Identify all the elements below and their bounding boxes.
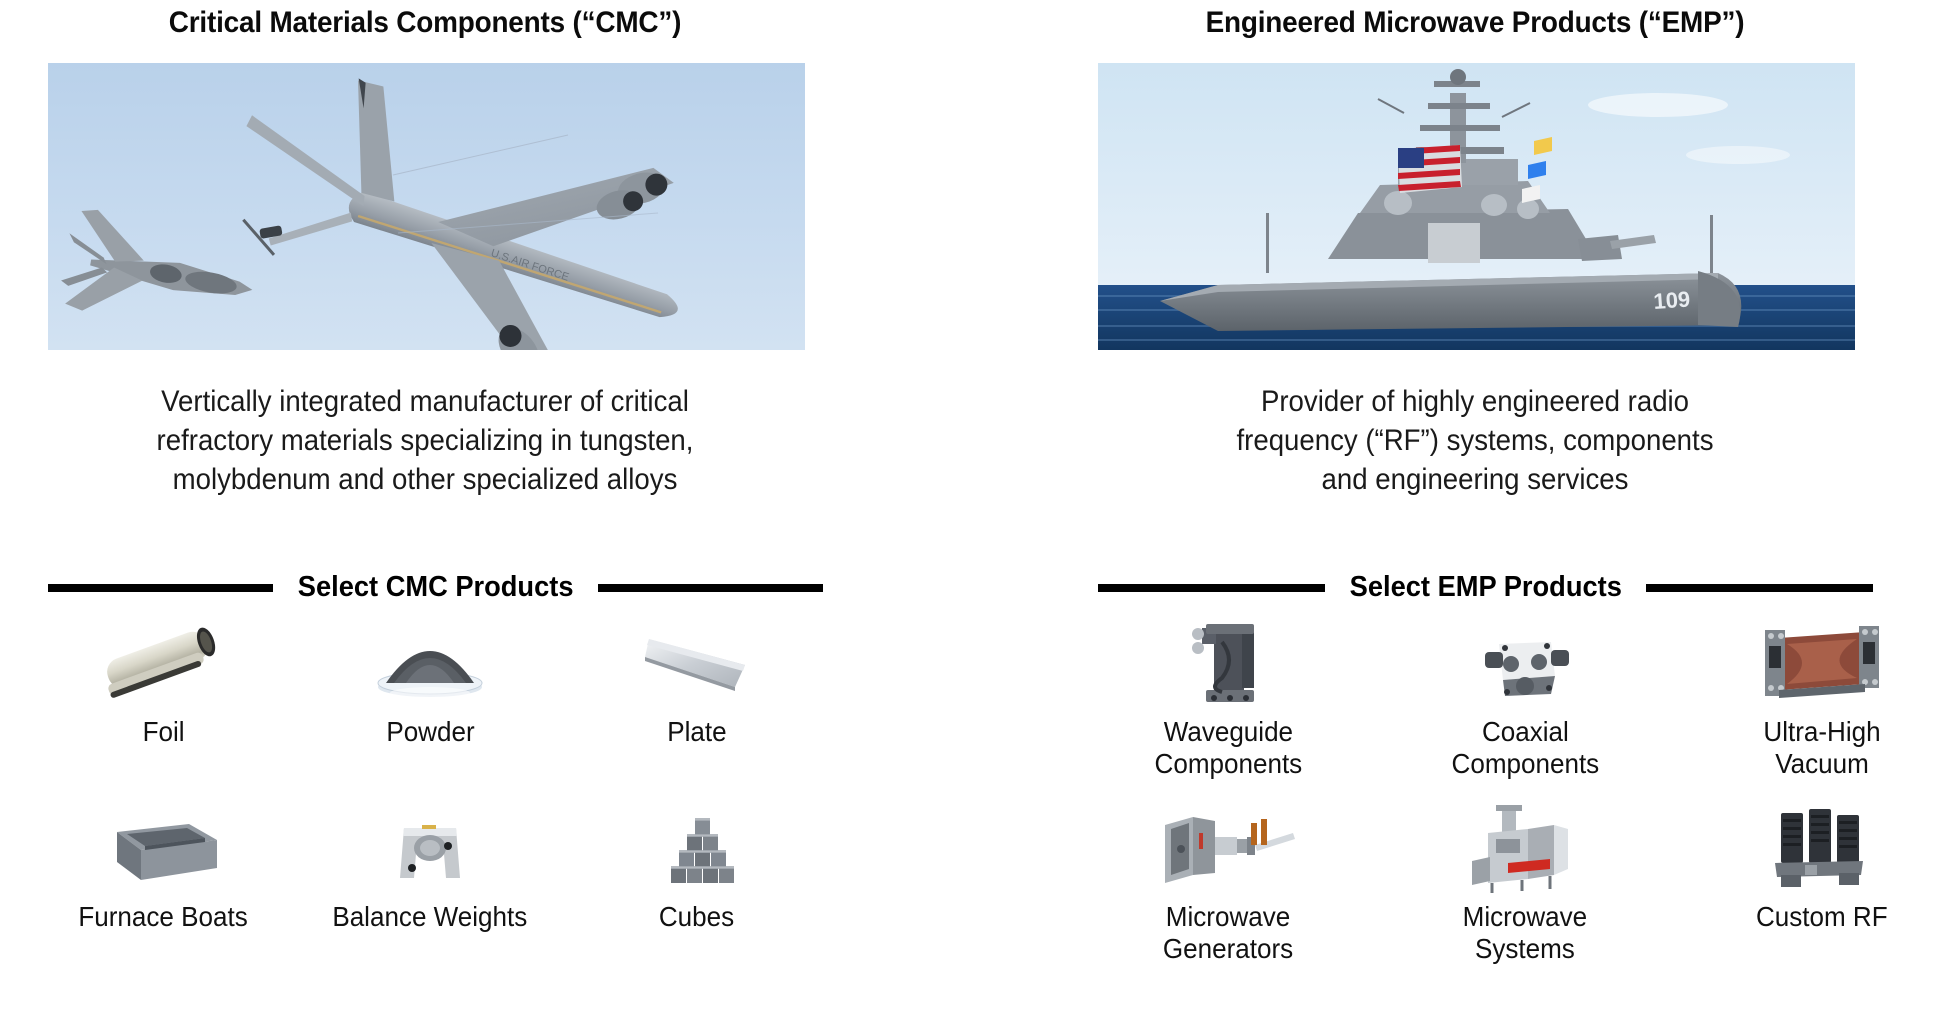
product-item-coaxial-components[interactable]: Coaxial Components (1377, 618, 1674, 803)
product-label: Furnace Boats (79, 901, 248, 933)
product-item-ultra-high-vacuum[interactable]: Ultra-High Vacuum (1673, 618, 1950, 803)
product-item-foil[interactable]: Foil (30, 618, 297, 803)
segment-description-emp: Provider of highly engineered radio freq… (1112, 382, 1839, 499)
product-label: Microwave Systems (1463, 901, 1587, 965)
hero-image-emp: 109 (1098, 63, 1855, 350)
product-label: Cubes (659, 901, 734, 933)
products-heading-emp: Select EMP Products (1098, 571, 1873, 604)
products-heading-label-cmc: Select CMC Products (298, 571, 574, 604)
product-label: Custom RF (1756, 901, 1888, 933)
products-heading-cmc: Select CMC Products (48, 571, 823, 604)
product-grid-cmc: Foil Powder (30, 618, 830, 988)
microwave-generator-icon (1143, 803, 1313, 895)
segment-title-cmc: Critical Materials Components (“CMC”) (58, 6, 793, 40)
rule-left (1098, 584, 1325, 592)
rule-left (48, 584, 273, 592)
product-label: Powder (386, 716, 474, 748)
foil-roll-icon (78, 618, 248, 710)
segment-column-cmc: Critical Materials Components (“CMC”) (30, 0, 930, 1012)
products-heading-label-emp: Select EMP Products (1349, 571, 1621, 604)
rule-right (1646, 584, 1873, 592)
balance-weight-icon (345, 803, 515, 895)
product-item-custom-rf[interactable]: Custom RF (1673, 803, 1950, 988)
product-item-balance-weights[interactable]: Balance Weights (297, 803, 564, 988)
hero-image-cmc: U.S.AIR FORCE (48, 63, 805, 350)
product-item-microwave-systems[interactable]: Microwave Systems (1377, 803, 1674, 988)
ultra-high-vacuum-icon (1737, 618, 1907, 710)
svg-text:109: 109 (1653, 286, 1691, 314)
furnace-boat-icon (78, 803, 248, 895)
metal-powder-dish-icon (345, 618, 515, 710)
product-label: Plate (667, 716, 726, 748)
coaxial-component-icon (1440, 618, 1610, 710)
metal-plate-icon (612, 618, 782, 710)
rule-right (598, 584, 823, 592)
segment-column-emp: Engineered Microwave Products (“EMP”) (1080, 0, 1950, 1012)
product-label: Waveguide Components (1154, 716, 1302, 780)
product-item-powder[interactable]: Powder (297, 618, 564, 803)
product-label: Microwave Generators (1163, 901, 1293, 965)
product-label: Foil (142, 716, 184, 748)
product-label: Ultra-High Vacuum (1763, 716, 1880, 780)
slide-root: Critical Materials Components (“CMC”) (0, 0, 1950, 1012)
segment-description-cmc: Vertically integrated manufacturer of cr… (62, 382, 789, 499)
navy-destroyer-photo-illustration: 109 (1098, 63, 1855, 350)
segment-title-emp: Engineered Microwave Products (“EMP”) (1108, 6, 1843, 40)
product-item-waveguide-components[interactable]: Waveguide Components (1080, 618, 1377, 803)
waveguide-component-icon (1143, 618, 1313, 710)
stacked-cubes-icon (612, 803, 782, 895)
product-label: Coaxial Components (1451, 716, 1599, 780)
product-item-cubes[interactable]: Cubes (563, 803, 830, 988)
product-item-microwave-generators[interactable]: Microwave Generators (1080, 803, 1377, 988)
product-grid-emp: Waveguide Components (1080, 618, 1950, 988)
product-item-plate[interactable]: Plate (563, 618, 830, 803)
microwave-system-icon (1440, 803, 1610, 895)
product-item-furnace-boats[interactable]: Furnace Boats (30, 803, 297, 988)
product-label: Balance Weights (333, 901, 528, 933)
aerial-refueling-photo-illustration: U.S.AIR FORCE (48, 63, 805, 350)
custom-rf-icon (1737, 803, 1907, 895)
